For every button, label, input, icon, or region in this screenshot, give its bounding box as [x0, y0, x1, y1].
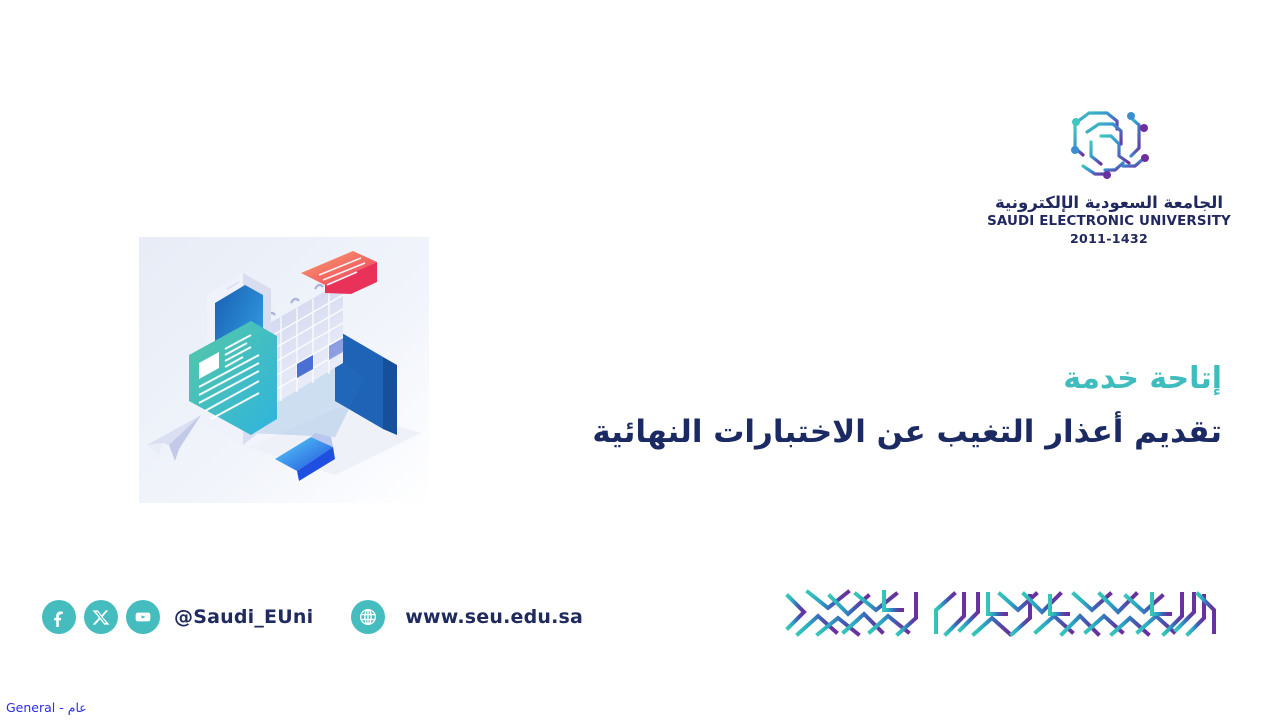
website-url: www.seu.edu.sa	[405, 606, 583, 628]
page-title: تقديم أعذار التغيب عن الاختبارات النهائي…	[462, 412, 1222, 452]
facebook-icon[interactable]	[42, 600, 76, 634]
globe-glyph	[357, 606, 379, 628]
youtube-icon[interactable]	[126, 600, 160, 634]
social-handle: @Saudi_EUni	[174, 606, 313, 628]
isometric-mobile-calendar-illustration	[139, 237, 429, 503]
service-label: إتاحة خدمة	[462, 360, 1222, 398]
x-twitter-icon[interactable]	[84, 600, 118, 634]
hexagon-circuit-icon	[1061, 100, 1157, 188]
globe-icon[interactable]	[351, 600, 385, 634]
classification-label: General - عام	[6, 700, 87, 715]
seu-logo: الجامعة السعودية الإلكترونية SAUDI ELECT…	[984, 100, 1234, 246]
footer-social-bar: @Saudi_EUni www.seu.edu.sa	[42, 600, 583, 634]
circuit-pattern-decoration	[784, 584, 1228, 638]
logo-english-name: SAUDI ELECTRONIC UNIVERSITY	[984, 214, 1234, 230]
logo-years: 2011-1432	[984, 231, 1234, 246]
youtube-glyph	[133, 607, 153, 627]
facebook-glyph	[49, 607, 69, 627]
x-twitter-glyph	[92, 608, 111, 627]
slide-canvas: الجامعة السعودية الإلكترونية SAUDI ELECT…	[0, 0, 1280, 720]
title-block: إتاحة خدمة تقديم أعذار التغيب عن الاختبا…	[462, 360, 1222, 452]
logo-arabic-name: الجامعة السعودية الإلكترونية	[984, 194, 1234, 213]
